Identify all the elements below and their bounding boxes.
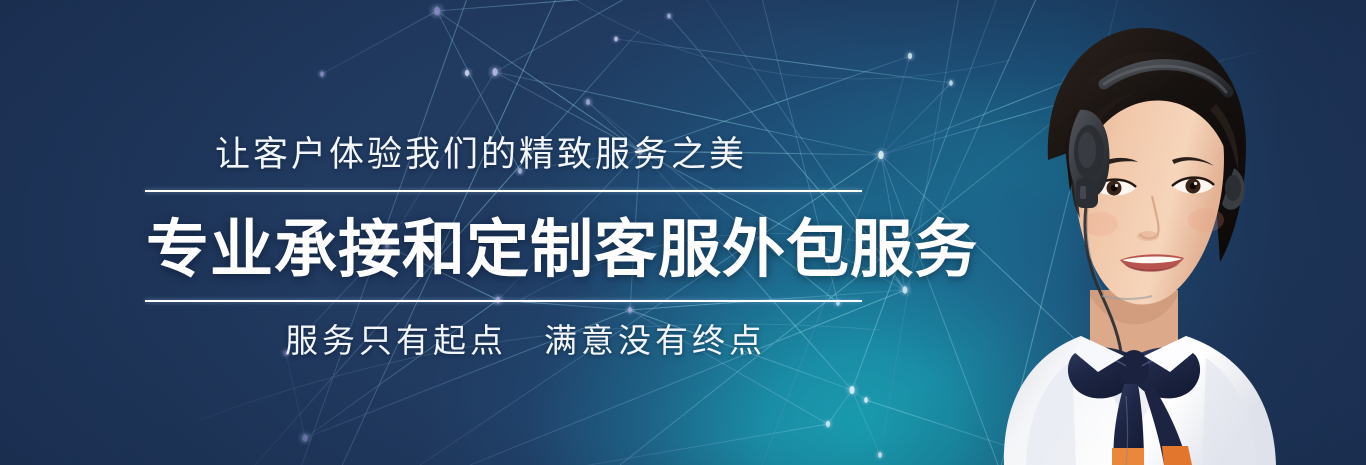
hero-banner: 让客户体验我们的精致服务之美 专业承接和定制客服外包服务 服务只有起点 满意没有… [0,0,1366,465]
banner-copy-block: 让客户体验我们的精致服务之美 专业承接和定制客服外包服务 服务只有起点 满意没有… [0,0,900,465]
bottom-divider-rule [145,300,862,302]
customer-service-agent-photo [876,0,1296,465]
top-divider-rule [145,190,862,192]
banner-subtitle: 服务只有起点 满意没有终点 [285,319,766,363]
banner-tagline: 让客户体验我们的精致服务之美 [215,131,747,179]
banner-headline: 专业承接和定制客服外包服务 [146,215,978,285]
